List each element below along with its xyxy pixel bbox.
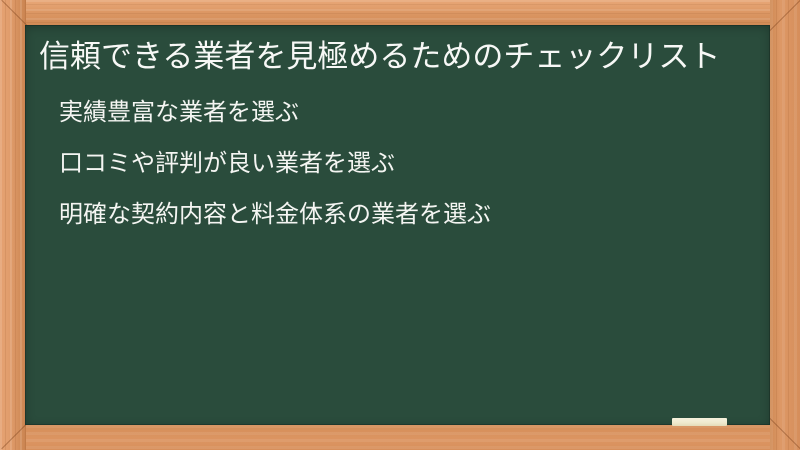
frame-rail-bottom (0, 425, 800, 450)
chalkboard-content: 信頼できる業者を見極めるためのチェックリスト 実績豊富な業者を選ぶ 口コミや評判… (25, 25, 770, 425)
frame-rail-right (770, 0, 800, 450)
checklist: 実績豊富な業者を選ぶ 口コミや評判が良い業者を選ぶ 明確な契約内容と料金体系の業… (39, 101, 756, 227)
chalkboard-surface: 信頼できる業者を見極めるためのチェックリスト 実績豊富な業者を選ぶ 口コミや評判… (25, 25, 770, 425)
board-title: 信頼できる業者を見極めるためのチェックリスト (39, 31, 756, 79)
chalk-stick (672, 418, 727, 426)
checklist-item: 口コミや評判が良い業者を選ぶ (59, 152, 756, 176)
frame-rail-top (0, 0, 800, 26)
frame-rail-left (0, 0, 26, 450)
chalkboard-slide: 信頼できる業者を見極めるためのチェックリスト 実績豊富な業者を選ぶ 口コミや評判… (0, 0, 800, 450)
checklist-item: 明確な契約内容と料金体系の業者を選ぶ (59, 203, 756, 227)
checklist-item: 実績豊富な業者を選ぶ (59, 101, 756, 125)
